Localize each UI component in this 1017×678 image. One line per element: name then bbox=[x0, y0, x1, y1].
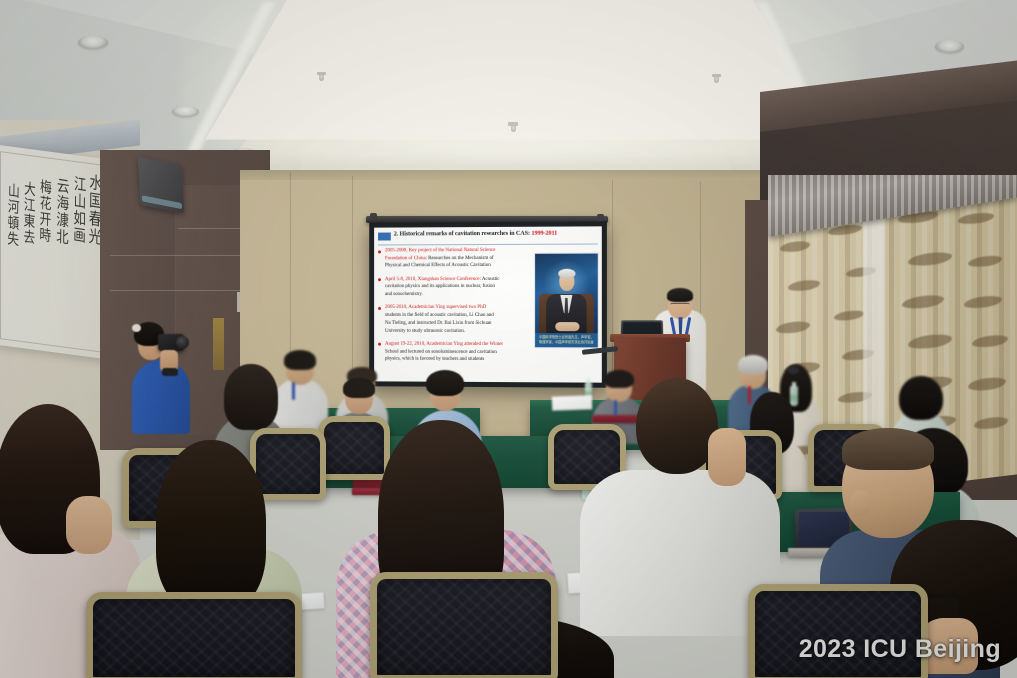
attendee-hair bbox=[842, 428, 934, 470]
sprinkler-head bbox=[712, 74, 721, 77]
portrait-hands bbox=[555, 322, 579, 331]
attendee-hair bbox=[343, 378, 375, 398]
chair-back bbox=[86, 592, 302, 678]
bullet-line: University to study ultrasonic cavitatio… bbox=[385, 327, 515, 335]
attendee-bob-hair bbox=[899, 376, 943, 420]
attendee-hair bbox=[426, 370, 464, 396]
calligraphy-column: 梅花开時 bbox=[37, 178, 51, 320]
slide-title-accent bbox=[378, 233, 391, 241]
bullet-line: Physical and Chemical Effects of Acousti… bbox=[385, 262, 515, 270]
wall-panel-line bbox=[110, 255, 260, 256]
slide-bullet-list: 2005-2008, Key project of the National N… bbox=[378, 247, 515, 370]
photographer-shirt bbox=[132, 360, 190, 434]
portrait-caption: 中国科学院院士应崇福先生，声学家， 物理学家，中国声学研究事业的开拓者 bbox=[535, 333, 598, 347]
attendee-hair bbox=[284, 350, 316, 370]
rail-bracket-right bbox=[597, 214, 604, 221]
slide-bullet: 2005-2010, Academician Ying supervised t… bbox=[378, 304, 515, 335]
portrait-caption-line: 物理学家，中国声学研究事业的开拓者 bbox=[535, 340, 598, 345]
wall-panel-line bbox=[110, 290, 260, 291]
chair-back bbox=[370, 572, 558, 678]
bullet-line: Na Tieling, and instructed Dr. Bai Lixin… bbox=[385, 320, 515, 328]
banquet-chair[interactable] bbox=[370, 572, 558, 678]
sprinkler-head bbox=[508, 122, 518, 126]
attendee-ear bbox=[850, 490, 872, 516]
banquet-chair[interactable] bbox=[86, 592, 302, 678]
attendee-long-hair bbox=[224, 364, 278, 430]
ceiling-downlight bbox=[935, 40, 964, 53]
sprinkler-head bbox=[317, 72, 326, 75]
hair-tie bbox=[132, 324, 141, 332]
presenter-hair bbox=[667, 288, 693, 302]
projection-screen: 2. Historical remarks of cavitation rese… bbox=[369, 221, 607, 387]
calligraphy-column: 水国春光 bbox=[86, 173, 101, 325]
ceiling-downlight bbox=[172, 106, 199, 117]
back-wall-top-trim bbox=[240, 170, 800, 180]
bullet-line: physics, which is favored by teachers an… bbox=[385, 356, 585, 365]
calligraphy-column: 江山如画 bbox=[70, 174, 84, 321]
calligraphy-column: 大江東去 bbox=[21, 180, 35, 320]
attendee-lanyard bbox=[292, 382, 295, 400]
cove-light bbox=[205, 0, 835, 140]
slide-title-text: 2. Historical remarks of cavitation rese… bbox=[394, 230, 532, 238]
portrait-hair bbox=[558, 269, 575, 278]
attendee-neck-shoulder bbox=[66, 496, 112, 554]
ceiling-downlight bbox=[78, 36, 108, 49]
calligraphy-column: 山河頓失 bbox=[5, 182, 19, 318]
camera-lens bbox=[176, 336, 189, 349]
rail-bracket-left bbox=[370, 213, 377, 220]
slide-bullet: April 5-8, 2010, Xiangshan Science Confe… bbox=[378, 276, 515, 299]
calligraphy-artwork: 水国春光 江山如画 云海漮北 梅花开時 大江東去 山河頓失 bbox=[0, 145, 108, 360]
attendee-ear-neck bbox=[708, 428, 746, 486]
door-plate bbox=[213, 318, 224, 370]
bullet-line: cavitation physics and its applications … bbox=[385, 283, 515, 291]
bullet-line: students in the field of acoustic cavita… bbox=[385, 312, 515, 320]
wall-speaker bbox=[138, 156, 184, 213]
attendee-long-hair bbox=[156, 440, 266, 610]
portrait-photo: 中国科学院院士应崇福先生，声学家， 物理学家，中国声学研究事业的开拓者 bbox=[534, 253, 599, 349]
slide-bullet: 2005-2008, Key project of the National N… bbox=[378, 247, 515, 271]
attendee-head-hair bbox=[636, 378, 718, 474]
presenter-glasses bbox=[670, 303, 690, 308]
watermark-text: 2023 ICU Beijing bbox=[799, 635, 1001, 664]
door-top-line bbox=[178, 228, 244, 229]
presentation-slide: 2. Historical remarks of cavitation rese… bbox=[374, 226, 602, 382]
slide-title-bar: 2. Historical remarks of cavitation rese… bbox=[378, 229, 598, 245]
slide-title: 2. Historical remarks of cavitation rese… bbox=[394, 229, 598, 237]
bullet-line: and sonochemistry. bbox=[385, 291, 515, 299]
hair-clip bbox=[788, 366, 799, 374]
camera-strap bbox=[162, 368, 178, 376]
conference-room-photo: 水国春光 江山如画 云海漮北 梅花开時 大江東去 山河頓失 bbox=[0, 0, 1017, 678]
slide-title-years: 1999-2011 bbox=[531, 230, 557, 237]
calligraphy-column: 云海漮北 bbox=[53, 176, 67, 320]
